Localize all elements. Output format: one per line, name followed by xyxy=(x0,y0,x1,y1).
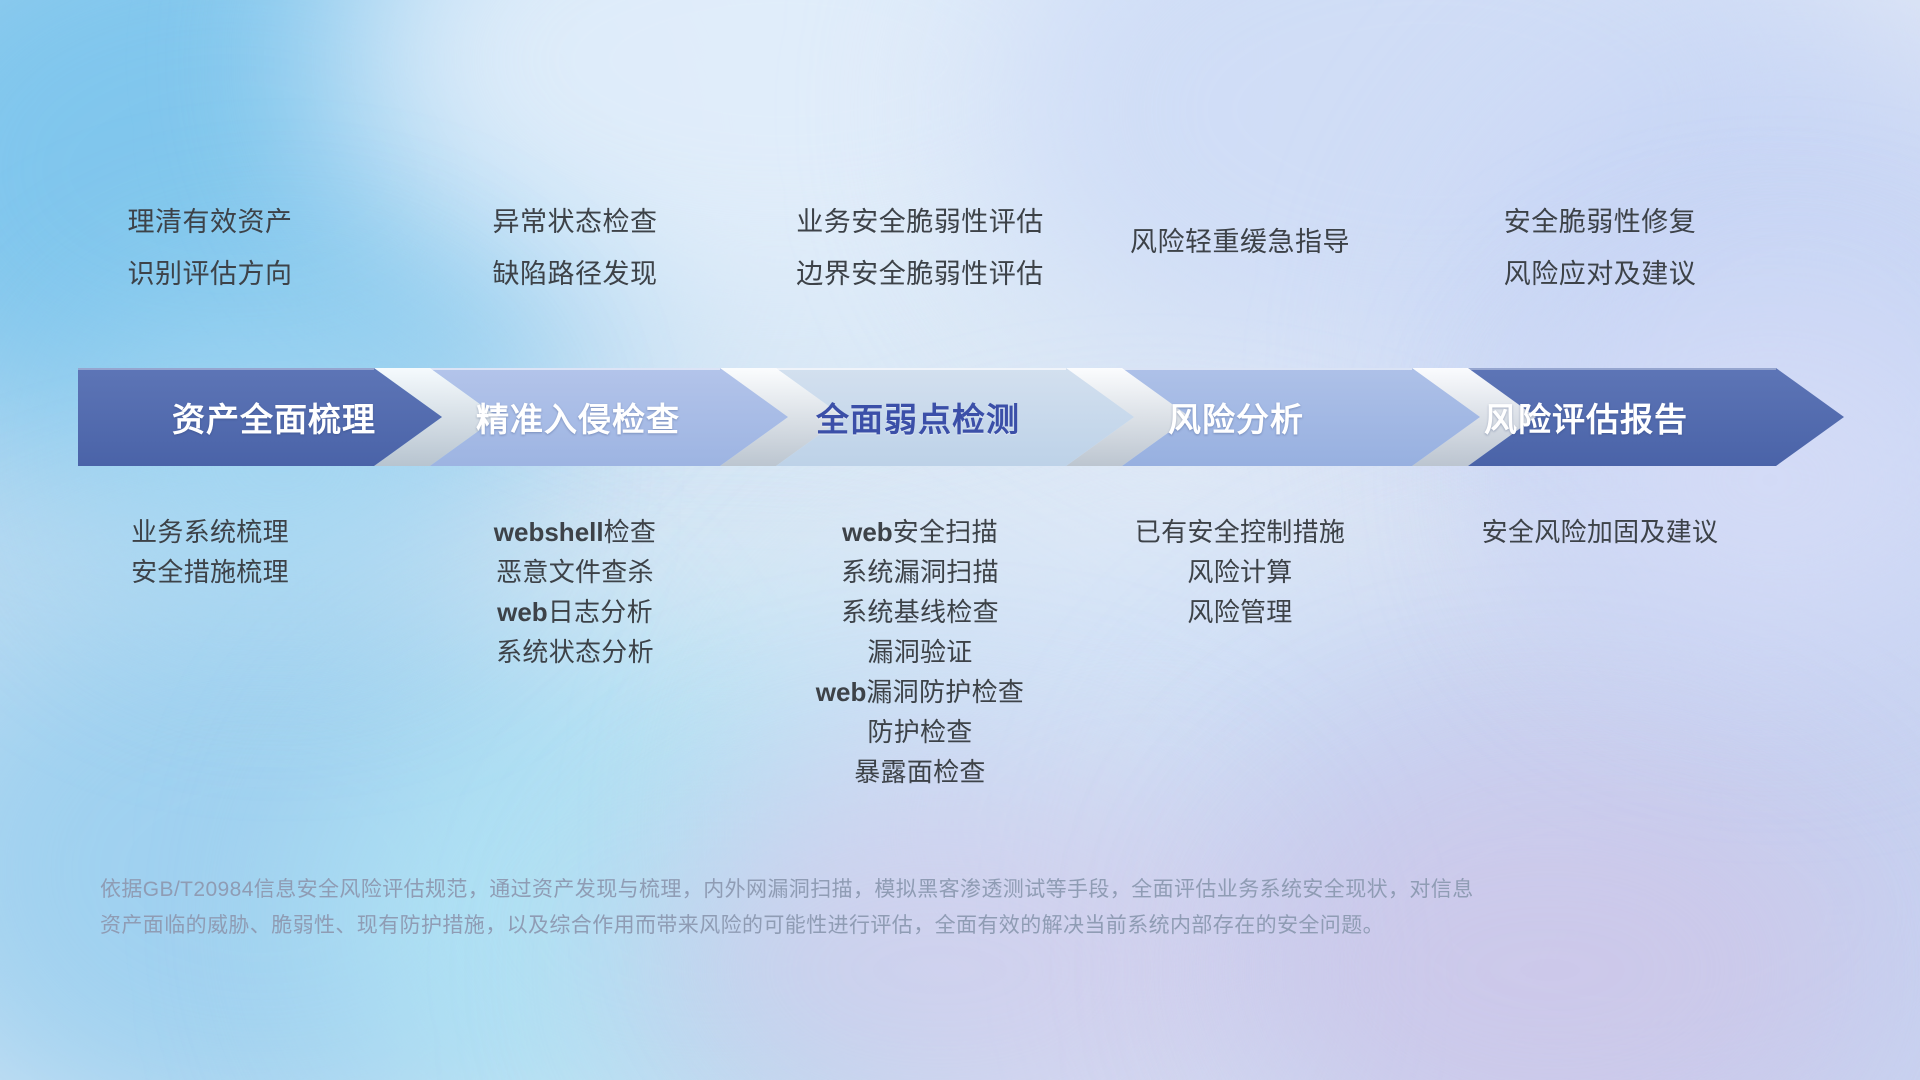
stage-bottom-item: 风险管理 xyxy=(990,592,1490,632)
stage-bottom-item: 防护检查 xyxy=(670,712,1170,752)
stage-arrow-label: 精准入侵检查 xyxy=(476,393,680,441)
stage-arrow-4[interactable]: 风险分析 xyxy=(1076,368,1396,466)
stage-bottom-item-cjk: 系统状态分析 xyxy=(496,637,654,667)
stage-bottom-item-cjk: 防护检查 xyxy=(867,717,972,747)
stage-top-item: 风险应对及建议 xyxy=(1350,248,1850,300)
stage-arrow-1[interactable]: 资产全面梳理 xyxy=(114,368,434,466)
stage-top-item: 安全脆弱性修复 xyxy=(1350,196,1850,248)
stage-arrow-label: 风险分析 xyxy=(1168,393,1304,441)
stage-top-label-group-5: 安全脆弱性修复风险应对及建议 xyxy=(1350,196,1850,300)
stage-bottom-item-cjk: 业务系统梳理 xyxy=(131,517,289,547)
diagram-content: 理清有效资产识别评估方向异常状态检查缺陷路径发现业务安全脆弱性评估边界安全脆弱性… xyxy=(0,0,1920,1080)
stage-bottom-item: 漏洞验证 xyxy=(670,632,1170,672)
stage-bottom-item-latin: web xyxy=(816,677,867,707)
stage-bottom-item-cjk: 漏洞防护检查 xyxy=(866,677,1024,707)
stage-bottom-item-cjk: 漏洞验证 xyxy=(867,637,972,667)
footer-description: 依据GB/T20984信息安全风险评估规范，通过资产发现与梳理，内外网漏洞扫描，… xyxy=(100,872,1600,944)
stage-top-labels: 理清有效资产识别评估方向异常状态检查缺陷路径发现业务安全脆弱性评估边界安全脆弱性… xyxy=(0,0,1920,300)
stage-bottom-item: 安全风险加固及建议 xyxy=(1350,512,1850,552)
stage-bottom-item: 风险计算 xyxy=(990,552,1490,592)
stage-bottom-item: 暴露面检查 xyxy=(670,752,1170,792)
stage-bottom-item-cjk: 检查 xyxy=(604,517,657,547)
stage-bottom-item-latin: webshell xyxy=(494,517,604,547)
stage-arrow-label: 资产全面梳理 xyxy=(172,393,376,441)
stage-arrow-5[interactable]: 风险评估报告 xyxy=(1426,368,1746,466)
stage-bottom-item-cjk: 安全扫描 xyxy=(893,517,998,547)
stage-arrow-3[interactable]: 全面弱点检测 xyxy=(758,368,1078,466)
stage-arrow-label: 风险评估报告 xyxy=(1484,393,1688,441)
stage-bottom-item-cjk: 已有安全控制措施 xyxy=(1135,517,1345,547)
stage-bottom-item-cjk: 暴露面检查 xyxy=(854,757,986,787)
stage-bottom-item-latin: web xyxy=(497,597,548,627)
stage-bottom-item-cjk: 系统基线检查 xyxy=(841,597,999,627)
stage-bottom-item-cjk: 恶意文件查杀 xyxy=(496,557,654,587)
stage-bottom-item-cjk: 风险计算 xyxy=(1187,557,1292,587)
stage-bottom-item: web漏洞防护检查 xyxy=(670,672,1170,712)
stage-arrow-2[interactable]: 精准入侵检查 xyxy=(418,368,738,466)
stage-bottom-item-cjk: 安全风险加固及建议 xyxy=(1482,517,1719,547)
footer-line-2: 资产面临的威胁、脆弱性、现有防护措施，以及综合作用而带来风险的可能性进行评估，全… xyxy=(100,908,1600,944)
stage-bottom-item-cjk: 日志分析 xyxy=(548,597,653,627)
footer-line-1: 依据GB/T20984信息安全风险评估规范，通过资产发现与梳理，内外网漏洞扫描，… xyxy=(100,872,1600,908)
stage-bottom-item-latin: web xyxy=(842,517,893,547)
process-arrow-band: 资产全面梳理精准入侵检查全面弱点检测风险分析风险评估报告 xyxy=(78,368,1844,466)
stage-bottom-item-cjk: 安全措施梳理 xyxy=(131,557,289,587)
stage-bottom-item-cjk: 风险管理 xyxy=(1187,597,1292,627)
stage-bottom-list-5: 安全风险加固及建议 xyxy=(1350,512,1850,552)
stage-bottom-item-cjk: 系统漏洞扫描 xyxy=(841,557,999,587)
stage-arrow-label: 全面弱点检测 xyxy=(816,393,1020,441)
